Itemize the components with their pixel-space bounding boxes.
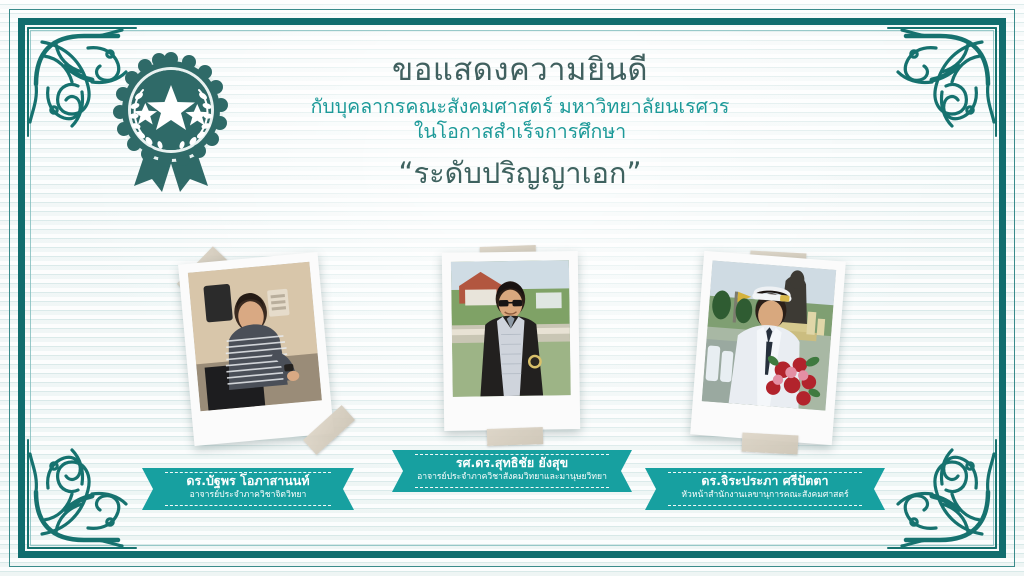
person-name-banner: ดร.จิระประภา ศรีปัตตา หัวหน้าสำนักงานเลข… [663, 468, 867, 510]
person-photo-frame [442, 251, 580, 431]
corner-ornament-icon [22, 434, 142, 554]
degree-quote: “ระดับปริญญาเอก” [240, 156, 800, 191]
person-name: ดร.จิระประภา ศรีปัตตา [663, 474, 867, 488]
person-name: รศ.ดร.สุทธิชัย ยังสุข [410, 456, 614, 470]
person-photo [702, 260, 836, 410]
tape-strip [487, 427, 544, 446]
person-name: ดร.บัฐพร โอภาสานนท์ [160, 474, 336, 488]
award-medal-icon [112, 52, 230, 194]
person-name-banner: รศ.ดร.สุทธิชัย ยังสุข อาจารย์ประจำภาควิช… [410, 450, 614, 492]
page-title: ขอแสดงความยินดี [240, 52, 800, 89]
subtitle-line-2: ในโอกาสสำเร็จการศึกษา [240, 120, 800, 145]
corner-ornament-icon [882, 434, 1002, 554]
person-photo [451, 260, 571, 397]
person-role: อาจารย์ประจำภาควิชาสังคมวิทยาและมานุษยวิ… [410, 472, 614, 483]
person-role: อาจารย์ประจำภาควิชาจิตวิทยา [160, 490, 336, 501]
subtitle-line-1: กับบุคลากรคณะสังคมศาสตร์ มหาวิทยาลัยนเรศ… [240, 95, 800, 120]
person-photo-frame [178, 252, 334, 446]
tape-strip [742, 433, 799, 455]
person-name-banner: ดร.บัฐพร โอภาสานนท์ อาจารย์ประจำภาควิชาจ… [160, 468, 336, 510]
congratulations-poster: ขอแสดงความยินดี กับบุคลากรคณะสังคมศาสตร์… [0, 0, 1024, 576]
person-role: หัวหน้าสำนักงานเลขานุการคณะสังคมศาสตร์ [663, 490, 867, 501]
corner-ornament-icon [882, 22, 1002, 142]
person-photo [188, 262, 322, 411]
headline-block: ขอแสดงความยินดี กับบุคลากรคณะสังคมศาสตร์… [240, 52, 800, 191]
person-photo-frame [690, 251, 846, 445]
